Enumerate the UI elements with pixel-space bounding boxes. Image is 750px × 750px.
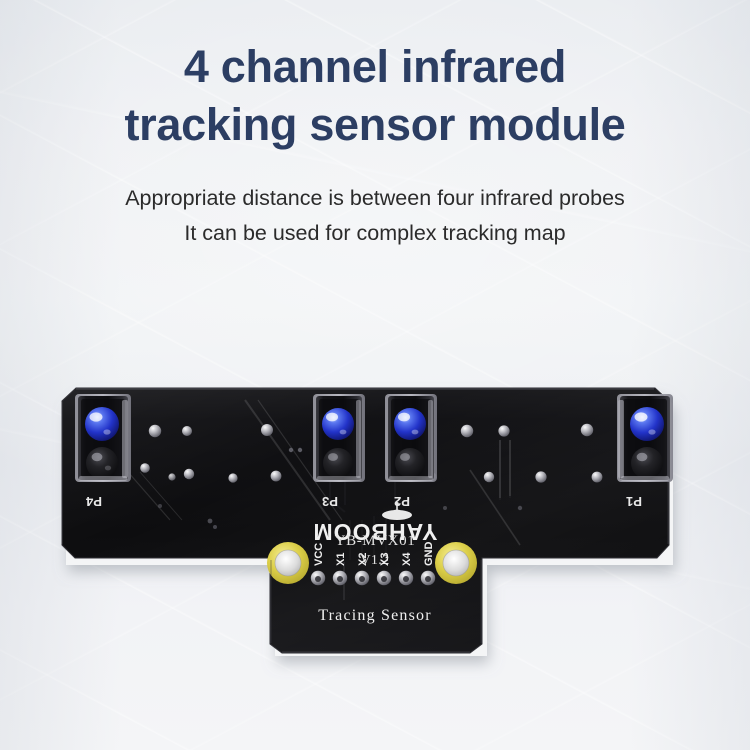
page-subtitle-line-1: Appropriate distance is between four inf…	[0, 181, 750, 216]
ir-sensor-p3	[313, 394, 365, 482]
page-title-line-2: tracking sensor module	[40, 96, 710, 154]
page-title: 4 channel infrared tracking sensor modul…	[0, 38, 750, 153]
pin-label-x4: X4	[401, 552, 413, 566]
ir-led-p3	[322, 408, 354, 440]
pin-label-gnd: GND	[423, 542, 435, 567]
ir-led-p2	[394, 408, 426, 440]
product-banner: 4 channel infrared tracking sensor modul…	[0, 0, 750, 750]
page-title-line-1: 4 channel infrared	[184, 41, 566, 92]
headline-block: 4 channel infrared tracking sensor modul…	[0, 38, 750, 251]
board-label: Tracing Sensor	[318, 607, 432, 624]
mounting-hole-left	[267, 542, 309, 584]
ir-sensor-p2	[385, 394, 437, 482]
ir-photodiode-p1	[631, 447, 663, 479]
sensor-label-p3: P3	[322, 494, 338, 509]
page-subtitle-line-2: It can be used for complex tracking map	[0, 216, 750, 251]
ir-photodiode-p4	[86, 447, 118, 479]
pin-label-vcc: VCC	[313, 543, 325, 566]
sensor-label-p4: P4	[85, 494, 102, 509]
ir-led-p4	[85, 407, 119, 441]
ir-photodiode-p2	[395, 448, 425, 478]
pin-label-x1: X1	[335, 553, 347, 566]
model-number: YB-MVX01	[335, 533, 416, 549]
pin-label-x2: X2	[357, 553, 369, 566]
mounting-hole-right	[435, 542, 477, 584]
ir-photodiode-p3	[323, 448, 353, 478]
ir-sensor-p4	[75, 394, 131, 482]
page-subtitle: Appropriate distance is between four inf…	[0, 181, 750, 251]
ir-led-p1	[630, 407, 664, 441]
sensor-label-p1: P1	[626, 494, 642, 509]
ir-sensor-p1	[617, 394, 673, 482]
pin-label-x3: X3	[379, 553, 391, 566]
